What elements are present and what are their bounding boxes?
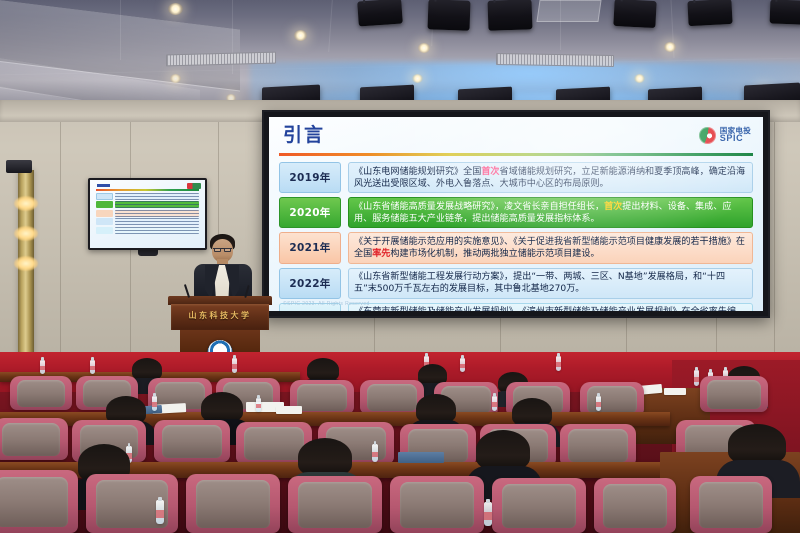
bottle-label xyxy=(596,402,601,407)
downlight xyxy=(634,74,645,83)
wall-seam xyxy=(60,100,61,360)
mini-text-box xyxy=(115,193,199,200)
year-badge: 2021年 xyxy=(279,232,341,263)
chair-cushion xyxy=(707,380,760,409)
chair-cushion xyxy=(699,482,763,528)
bottle-label xyxy=(40,366,45,370)
auditorium-chair xyxy=(0,418,68,460)
bottle-label xyxy=(232,364,237,369)
auditorium-scene: 引言 国家电投 SPIC 2019年《山东电网储能规划研究》全国首次省域储能规划… xyxy=(0,0,800,533)
stage-light xyxy=(770,0,800,25)
auditorium-chair xyxy=(86,474,178,533)
mini-text-box xyxy=(115,210,199,217)
body-text: 构建市场化机制，推动两批独立储能示范项目建设。 xyxy=(390,249,599,259)
presenter-glasses-icon xyxy=(214,248,221,252)
bottle-label xyxy=(372,452,378,458)
bottle-label xyxy=(484,512,492,520)
water-bottle xyxy=(156,500,164,524)
mini-spic-logo xyxy=(187,183,201,189)
body-text: 《山东省新型储能工程发展行动方案》，提出“一带、两城、三区、N基地”发展格局，和… xyxy=(354,272,725,294)
water-bottle xyxy=(232,358,237,373)
auditorium-chair xyxy=(700,376,768,412)
stage-light xyxy=(687,0,732,26)
bottle-label xyxy=(556,362,561,367)
podium-face: 山东科技大学 xyxy=(171,304,269,330)
bottle-label xyxy=(492,402,497,407)
auditorium-chair xyxy=(390,476,484,533)
column-lamp xyxy=(14,256,38,271)
highlight-text: 首次 xyxy=(481,167,499,177)
chair-cushion xyxy=(297,384,347,411)
auditorium-chair xyxy=(10,376,72,410)
auditorium-chair xyxy=(690,476,772,533)
slide-timeline-row: 2021年《关于开展储能示范应用的实施意见》、《关于促进我省新型储能示范项目健康… xyxy=(279,232,753,263)
mini-row xyxy=(96,210,199,217)
chair-cushion xyxy=(17,380,65,407)
slide-footer: ©SPIC 2023. All Rights Reserved xyxy=(283,301,370,307)
chair-cushion xyxy=(298,482,371,528)
water-bottle xyxy=(492,396,497,411)
mini-row xyxy=(96,193,199,200)
column-lamp xyxy=(14,196,38,211)
water-bottle xyxy=(460,358,465,372)
chair-cushion xyxy=(2,423,60,457)
stage-light xyxy=(357,0,403,27)
presenter-glasses-icon xyxy=(224,248,231,252)
bottle-label xyxy=(156,510,164,518)
attendee-hair xyxy=(512,398,552,426)
body-text: 《山东省储能高质量发展战略研究》，凌文省长亲自担任组长， xyxy=(354,202,604,212)
auditorium-chair xyxy=(154,420,230,462)
chair-cushion xyxy=(502,484,575,528)
monitor-stand xyxy=(138,250,158,256)
water-bottle xyxy=(256,398,261,412)
chair-cushion xyxy=(162,425,221,459)
spic-logo-text: 国家电投 SPIC xyxy=(720,127,751,144)
attendee-hair xyxy=(416,394,456,423)
projection-screen-frame: 引言 国家电投 SPIC 2019年《山东电网储能规划研究》全国首次省域储能规划… xyxy=(262,110,770,318)
spic-mark-icon xyxy=(699,127,716,144)
wall-seam xyxy=(774,100,775,360)
stage-light xyxy=(613,0,656,28)
mini-text-box xyxy=(115,227,199,234)
slide-timeline-row: 2022年《山东省新型储能工程发展行动方案》，提出“一带、两城、三区、N基地”发… xyxy=(279,268,753,299)
downlight xyxy=(664,42,676,52)
downlight xyxy=(418,43,430,53)
chair-cushion xyxy=(0,477,68,527)
projection-screen: 引言 国家电投 SPIC 2019年《山东电网储能规划研究》全国首次省域储能规划… xyxy=(269,117,763,311)
bottle-label xyxy=(694,377,699,382)
auditorium-chair xyxy=(580,382,644,416)
slide-timeline-row: 2019年《山东电网储能规划研究》全国首次省域储能规划研究，立足新能源消纳和夏季… xyxy=(279,162,753,193)
auditorium-chair xyxy=(492,478,586,533)
auditorium-chair xyxy=(594,478,676,533)
water-bottle xyxy=(596,396,601,411)
attendee-hair xyxy=(728,424,786,464)
mini-row xyxy=(96,227,199,234)
attendee-hair xyxy=(307,358,339,381)
timeline-text: 《山东电网储能规划研究》全国首次省域储能规划研究，立足新能源消纳和夏季顶高峰，确… xyxy=(348,162,753,193)
slide-header: 引言 国家电投 SPIC xyxy=(269,117,763,153)
mini-year-badge xyxy=(96,201,113,208)
mini-text-box xyxy=(115,218,199,225)
chair-cushion xyxy=(603,484,667,528)
water-bottle xyxy=(556,356,561,371)
paper-document xyxy=(664,388,686,395)
mini-accent-bar xyxy=(96,189,199,191)
spic-logo-en: SPIC xyxy=(720,134,751,143)
year-badge: 2020年 xyxy=(279,197,341,228)
auditorium-chair xyxy=(560,424,636,466)
highlight-text: 率先 xyxy=(372,249,390,259)
mini-slide-title xyxy=(97,184,110,187)
timeline-text: 《关于开展储能示范应用的实施意见》、《关于促进我省新型储能示范项目健康发展的若干… xyxy=(348,232,753,263)
water-bottle xyxy=(484,502,492,526)
notebook xyxy=(398,452,444,463)
mini-year-badge xyxy=(96,193,113,200)
stage-light xyxy=(427,0,470,31)
body-text: 《东营市新型储能及储能产业发展规划》、《滨州市新型储能及储能产业发展规划》在全省… xyxy=(354,307,736,311)
year-badge: 2022年 xyxy=(279,268,341,299)
mini-year-badge xyxy=(96,218,113,225)
slide-timeline-row: 2020年《山东省储能高质量发展战略研究》，凌文省长亲自担任组长，首次提出材料、… xyxy=(279,197,753,228)
ceiling-access-hatch xyxy=(536,0,601,22)
timeline-text: 《山东省储能高质量发展战略研究》，凌文省长亲自担任组长，首次提出材料、设备、集成… xyxy=(348,197,753,228)
attendee-hair xyxy=(132,358,162,380)
auditorium-chair xyxy=(186,474,280,533)
ceiling-camera xyxy=(6,160,32,173)
water-bottle xyxy=(90,360,95,374)
attendee-hair xyxy=(476,430,530,470)
highlight-text: 首次 xyxy=(604,202,622,212)
downlight xyxy=(294,30,307,41)
mini-year-badge xyxy=(96,210,113,217)
mini-row xyxy=(96,218,199,225)
bottle-label xyxy=(90,366,95,370)
chair-cushion xyxy=(568,429,627,463)
paper-document xyxy=(276,406,302,414)
mini-text-box xyxy=(115,201,199,208)
column-lamp xyxy=(14,226,38,241)
spic-logo: 国家电投 SPIC xyxy=(699,127,751,144)
bottle-label xyxy=(460,364,465,368)
podium-institution-name: 山东科技大学 xyxy=(171,310,269,321)
chair-cushion xyxy=(400,482,473,528)
mini-row xyxy=(96,201,199,208)
ceiling-seam xyxy=(120,0,121,60)
water-bottle xyxy=(372,444,378,462)
stage-light xyxy=(487,0,532,31)
auditorium-chair xyxy=(288,476,382,533)
body-text: 《山东电网储能规划研究》全国 xyxy=(354,167,481,177)
bottle-label xyxy=(256,404,261,408)
attendee-hair xyxy=(298,438,352,476)
auditorium-chair xyxy=(0,470,78,533)
slide-title: 引言 xyxy=(283,126,325,145)
slide-timeline-rows: 2019年《山东电网储能规划研究》全国首次省域储能规划研究，立足新能源消纳和夏季… xyxy=(269,156,763,311)
attendee-hair xyxy=(201,392,243,422)
ceiling-seam xyxy=(328,0,333,52)
chair-cushion xyxy=(587,386,637,413)
ventilation-grille xyxy=(496,53,614,67)
downlight xyxy=(412,74,423,83)
timeline-text: 《东营市新型储能及储能产业发展规划》、《滨州市新型储能及储能产业发展规划》在全省… xyxy=(348,303,753,311)
downlight xyxy=(170,74,181,83)
water-bottle xyxy=(40,360,45,374)
year-badge: 2019年 xyxy=(279,162,341,193)
chair-cushion xyxy=(196,480,269,527)
downlight xyxy=(168,3,183,15)
timeline-text: 《山东省新型储能工程发展行动方案》，提出“一带、两城、三区、N基地”发展格局，和… xyxy=(348,268,753,299)
water-bottle xyxy=(694,370,699,386)
mini-year-badge xyxy=(96,227,113,234)
